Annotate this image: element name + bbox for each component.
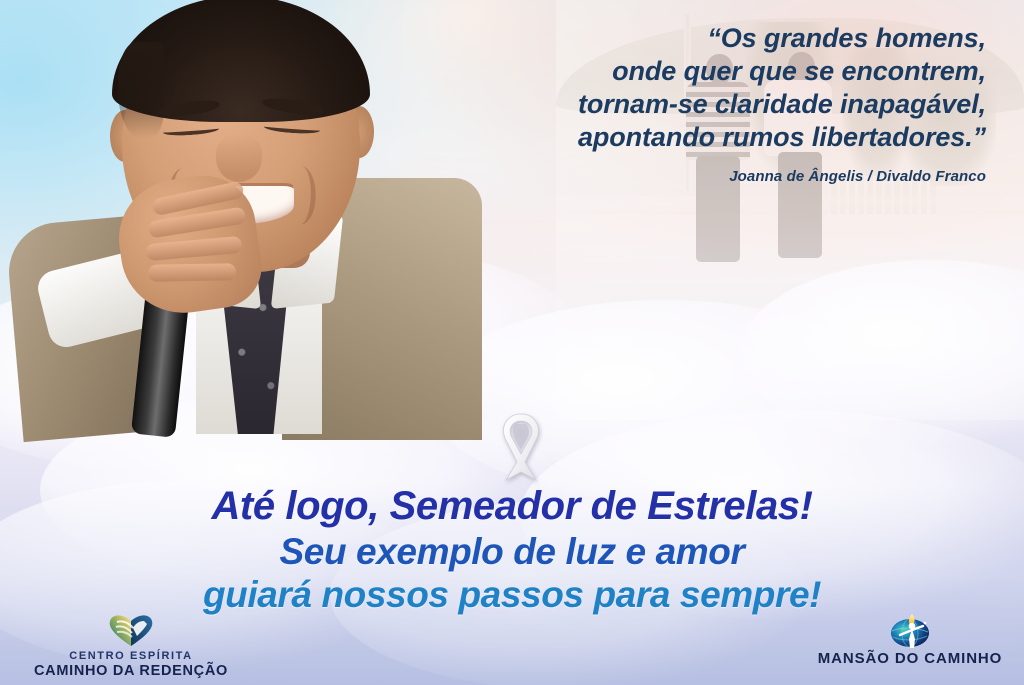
memorial-poster: “Os grandes homens, onde quer que se enc…: [0, 0, 1024, 685]
quote-line-2: onde quer que se encontrem,: [296, 55, 986, 88]
logo-right-line-2: MANSÃO DO CAMINHO: [800, 650, 1020, 667]
quote-line-4: apontando rumos libertadores.”: [296, 121, 986, 154]
headline-line-1: Até logo, Semeador de Estrelas!: [0, 486, 1024, 526]
logo-centro-espirita: CENTRO ESPÍRITA CAMINHO DA REDENÇÃO: [16, 612, 246, 679]
quote-block: “Os grandes homens, onde quer que se enc…: [296, 22, 986, 185]
heart-hands-icon: [16, 612, 246, 648]
logo-left-line-1: CENTRO ESPÍRITA: [16, 650, 246, 662]
headline-block: Até logo, Semeador de Estrelas! Seu exem…: [0, 486, 1024, 613]
quote-line-3: tornam-se claridade inapagável,: [296, 88, 986, 121]
quote-author: Joanna de Ângelis / Divaldo Franco: [296, 168, 986, 185]
logo-mansao-do-caminho: MANSÃO DO CAMINHO: [800, 612, 1020, 667]
headline-line-2: Seu exemplo de luz e amor: [0, 533, 1024, 570]
globe-figure-flame-icon: [800, 612, 1020, 648]
quote-line-1: “Os grandes homens,: [296, 22, 986, 55]
headline-line-3: guiará nossos passos para sempre!: [0, 576, 1024, 613]
logo-left-line-2: CAMINHO DA REDENÇÃO: [16, 663, 246, 679]
white-ribbon-icon: [486, 410, 556, 484]
